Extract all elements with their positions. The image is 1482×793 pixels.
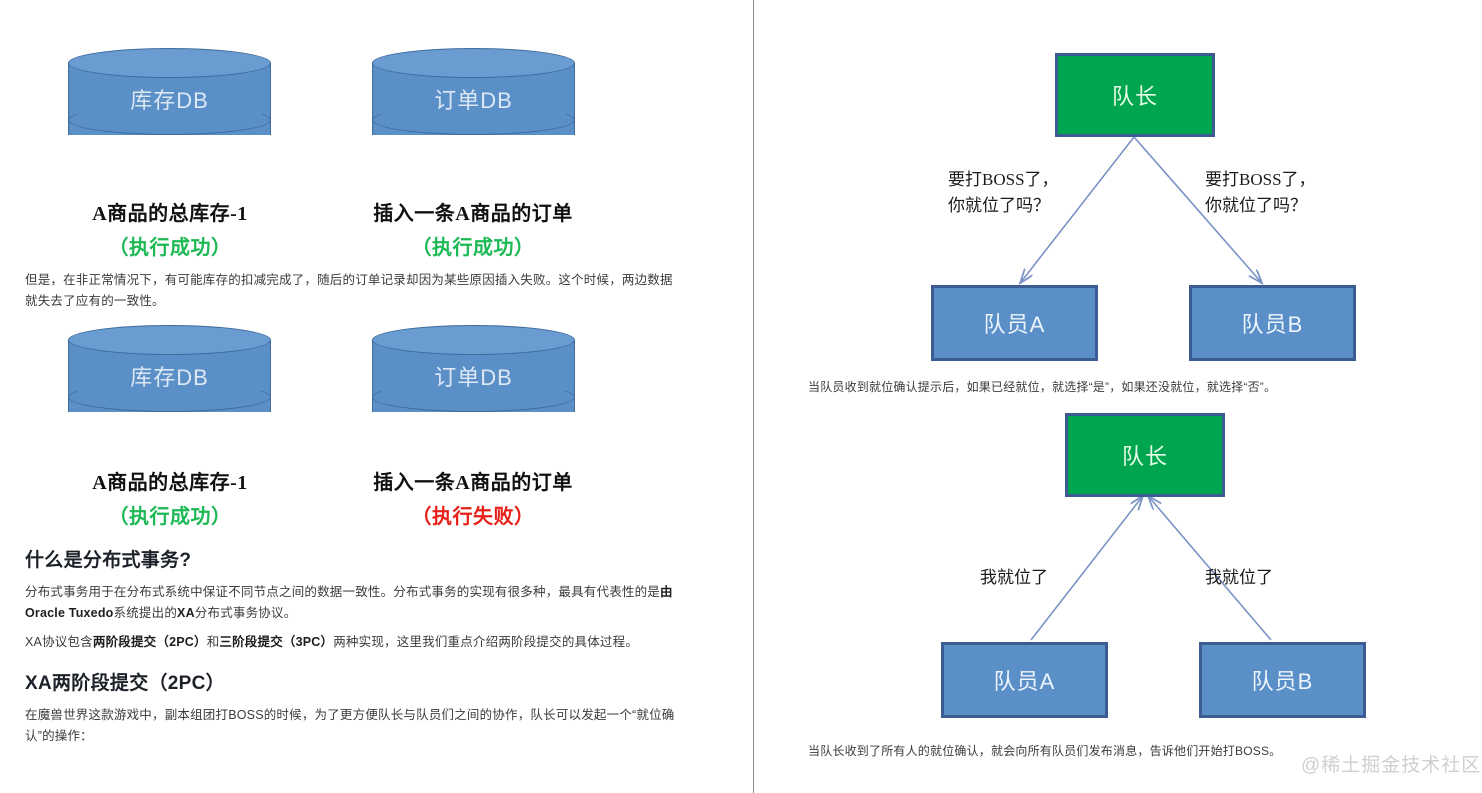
caption-diagram-1: 当队员收到就位确认提示后，如果已经就位，就选择“是”，如果还没就位，就选择“否”… (808, 378, 1276, 395)
paragraph-inconsistency-note: 但是，在非正常情况下，有可能库存的扣减完成了，随后的订单记录却因为某些原因插入失… (25, 270, 685, 312)
caption-line-main: 插入一条A商品的订单 (323, 197, 623, 226)
caption-line-status: （执行成功） (323, 231, 623, 260)
cylinder-label: 订单DB (372, 355, 575, 397)
paragraph-xa-protocol: XA协议包含两阶段提交（2PC）和三阶段提交（3PC）两种实现，这里我们重点介绍… (25, 632, 705, 653)
node-member-a-2-label: 队员A (994, 664, 1056, 696)
caption-line-status: （执行成功） (20, 231, 320, 260)
cylinder-top-ellipse (68, 325, 271, 355)
caption-diagram-2: 当队长收到了所有人的就位确认，就会向所有队员们发布消息，告诉他们开始打BOSS。 (808, 742, 1281, 759)
cylinder-label: 库存DB (68, 78, 271, 120)
node-member-b-1: 队员B (1189, 285, 1356, 361)
cylinder-order-db-1: 订单DB (372, 48, 575, 150)
left-article-panel: 库存DB 订单DB A商品的总库存-1 （执行成功） 插入一条A商品的订单 （执… (0, 0, 753, 793)
edge-label-request-right-line1: 要打BOSS了， (1205, 167, 1316, 193)
cylinder-label: 订单DB (372, 78, 575, 120)
node-member-a-1-label: 队员A (984, 307, 1046, 339)
caption-line-main: A商品的总库存-1 (20, 197, 320, 226)
caption-line-status: （执行成功） (20, 500, 320, 529)
node-leader-2-label: 队长 (1122, 439, 1168, 471)
cylinder-order-db-2: 订单DB (372, 325, 575, 427)
paragraph-xa-bold-3pc: 三阶段提交（3PC） (219, 635, 333, 649)
cylinder-inventory-db-2: 库存DB (68, 325, 271, 427)
paragraph-definition-bold-xa: XA (177, 606, 195, 620)
cylinder-top-ellipse (372, 48, 575, 78)
caption-line-main: A商品的总库存-1 (20, 466, 320, 495)
paragraph-xa-bold-2pc: 两阶段提交（2PC） (93, 635, 207, 649)
edge-label-request-right-line2: 你就位了吗？ (1205, 193, 1316, 219)
paragraph-definition-part-3: 分布式事务协议。 (195, 606, 297, 620)
paragraph-definition-part-1: 分布式事务用于在分布式系统中保证不同节点之间的数据一致性。分布式事务的实现有很多… (25, 585, 660, 599)
paragraph-xa-part-1: XA协议包含 (25, 635, 93, 649)
node-member-a-2: 队员A (941, 642, 1108, 718)
paragraph-definition-part-2: 系统提出的 (114, 606, 178, 620)
paragraph-definition: 分布式事务用于在分布式系统中保证不同节点之间的数据一致性。分布式事务的实现有很多… (25, 582, 685, 624)
cylinder-top-ellipse (68, 48, 271, 78)
heading-what-is-distributed-transaction: 什么是分布式事务? (25, 545, 191, 572)
cylinder-inventory-db-1: 库存DB (68, 48, 271, 150)
node-member-b-2-label: 队员B (1252, 664, 1314, 696)
edge-label-request-left: 要打BOSS了， 你就位了吗？ (948, 167, 1059, 219)
caption-line-status: （执行失败） (323, 500, 623, 529)
node-member-b-1-label: 队员B (1242, 307, 1304, 339)
edge-label-ack-left: 我就位了 (980, 565, 1048, 591)
caption-line-main: 插入一条A商品的订单 (323, 466, 623, 495)
edge-label-request-right: 要打BOSS了， 你就位了吗？ (1205, 167, 1316, 219)
page-root: 库存DB 订单DB A商品的总库存-1 （执行成功） 插入一条A商品的订单 （执… (0, 0, 1482, 793)
edge-label-request-left-line1: 要打BOSS了， (948, 167, 1059, 193)
cylinder-label: 库存DB (68, 355, 271, 397)
caption-order-1: 插入一条A商品的订单 （执行成功） (323, 197, 623, 260)
caption-order-2: 插入一条A商品的订单 （执行失败） (323, 466, 623, 529)
caption-inventory-1: A商品的总库存-1 （执行成功） (20, 197, 320, 260)
paragraph-xa-part-3: 两种实现，这里我们重点介绍两阶段提交的具体过程。 (333, 635, 638, 649)
edge-label-ack-right: 我就位了 (1205, 565, 1273, 591)
paragraph-xa-part-2: 和 (207, 635, 220, 649)
heading-xa-two-phase-commit: XA两阶段提交（2PC） (25, 668, 225, 695)
edge-label-request-left-line2: 你就位了吗？ (948, 193, 1059, 219)
watermark-juejin: @稀土掘金技术社区 (1301, 750, 1481, 777)
node-leader-1-label: 队长 (1112, 79, 1158, 111)
node-member-a-1: 队员A (931, 285, 1098, 361)
paragraph-wow-analogy: 在魔兽世界这款游戏中，副本组团打BOSS的时候，为了更方便队长与队员们之间的协作… (25, 705, 685, 747)
node-member-b-2: 队员B (1199, 642, 1366, 718)
caption-inventory-2: A商品的总库存-1 （执行成功） (20, 466, 320, 529)
cylinder-top-ellipse (372, 325, 575, 355)
node-leader-1: 队长 (1055, 53, 1215, 137)
node-leader-2: 队长 (1065, 413, 1225, 497)
right-diagram-panel: 队长 要打BOSS了， 你就位了吗？ 要打BOSS了， 你就位了吗？ 队员A 队… (753, 0, 1482, 793)
